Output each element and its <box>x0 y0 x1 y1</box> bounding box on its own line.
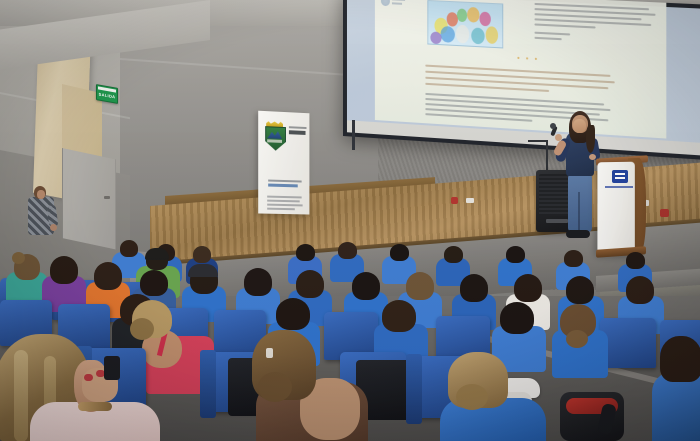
presentation-slide: • • • <box>375 0 666 139</box>
slide-logo-icon <box>381 0 407 9</box>
roll-up-banner <box>258 111 309 215</box>
auditorium-photo: SALIDA <box>0 0 700 441</box>
standing-attendee-face <box>37 190 45 199</box>
attendee-hair <box>660 336 700 382</box>
presenter-shoes <box>566 230 590 238</box>
presenter-hand <box>555 134 562 141</box>
attendee-hair-highlight <box>14 350 28 441</box>
seat[interactable] <box>600 318 656 368</box>
presenter-legs <box>568 174 592 232</box>
attendee-hair-bun <box>258 372 292 402</box>
attendee-hair <box>120 240 138 257</box>
attendee-hair <box>500 302 534 334</box>
attendee-hair <box>566 276 594 304</box>
attendee-hair <box>460 274 488 302</box>
attendee-hair <box>94 262 122 290</box>
attendee-hair <box>338 242 357 259</box>
attendee-phone <box>104 356 120 380</box>
attendee-hair <box>514 274 542 302</box>
attendee-hair <box>296 244 315 261</box>
attendee-hair-bun <box>456 384 488 410</box>
mic-stand-arm <box>528 140 548 142</box>
attendee-hair <box>626 252 645 269</box>
slide-illustration <box>427 0 503 48</box>
presenter-right-hand <box>589 154 596 160</box>
stage-object <box>660 209 669 217</box>
banner-subtitle-line1 <box>268 180 301 183</box>
attendee-body <box>652 372 700 441</box>
attendee-hair-bun <box>130 318 154 340</box>
banner-org-line1 <box>289 126 307 129</box>
lectern-logo-text <box>605 186 633 188</box>
standing-attendee-hand <box>50 224 57 231</box>
pa-speaker-badge <box>546 219 568 223</box>
presenter-face <box>573 119 586 133</box>
attendee-cap <box>145 248 169 260</box>
seat-armrest[interactable] <box>200 350 216 418</box>
attendee-hair <box>390 244 409 261</box>
microphone-head <box>550 123 556 129</box>
attendee-hair-clip <box>266 348 273 358</box>
screen-surface: • • • <box>347 0 700 144</box>
stage-object <box>451 197 458 204</box>
attendee-hair-bun <box>12 252 25 264</box>
lectern-logo-icon <box>612 170 628 183</box>
attendee-hair <box>506 246 525 263</box>
attendee-hair <box>140 270 168 296</box>
presenter-hair-back <box>586 125 595 153</box>
screen-support <box>352 120 355 150</box>
attendee-hair <box>244 268 272 296</box>
banner-org-line2 <box>289 130 306 135</box>
attendee-hair <box>626 276 654 304</box>
attendee-hair <box>382 300 416 332</box>
stage-object <box>466 198 474 203</box>
attendee-hair <box>296 270 324 298</box>
attendee-bracelet <box>78 402 112 411</box>
attendee-hair-bun <box>566 330 588 348</box>
seat-armrest[interactable] <box>406 354 422 424</box>
attendee-hair <box>276 298 310 330</box>
attendee-hair <box>352 272 380 300</box>
attendee-cap <box>188 264 218 277</box>
attendee-hair <box>564 250 583 267</box>
door-handle[interactable] <box>104 196 110 199</box>
attendee-fingernail <box>84 374 93 381</box>
attendee-hair <box>50 256 78 284</box>
projection-screen: • • • <box>343 0 700 161</box>
attendee-hair <box>406 272 434 300</box>
presenter-leg-seam <box>578 192 580 232</box>
coat-of-arms-icon <box>264 121 285 150</box>
banner-subtitle-line2 <box>268 184 298 187</box>
attendee-hair <box>444 246 463 263</box>
slide-title: • • • <box>492 54 565 67</box>
attendee-hair <box>193 246 211 263</box>
